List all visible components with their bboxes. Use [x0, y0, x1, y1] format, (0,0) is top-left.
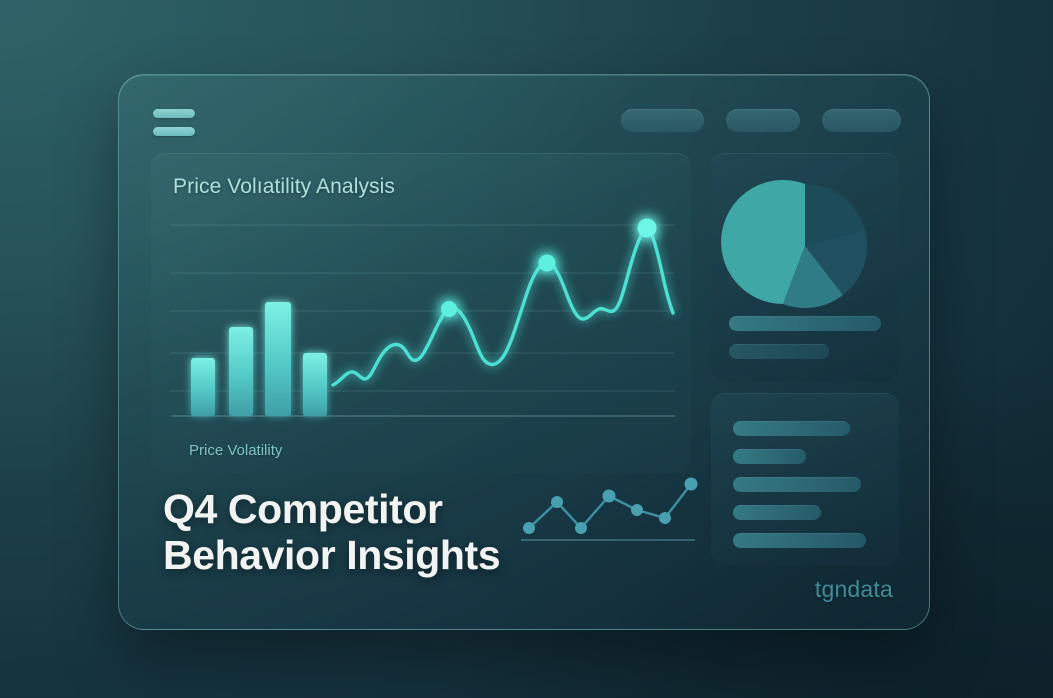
details-card-skeletons	[733, 421, 879, 548]
skeleton-row-3	[733, 477, 861, 492]
skeleton-row-4	[733, 505, 821, 520]
app-window: Price Volıatility Analysis	[118, 74, 930, 630]
skeleton-row-1	[729, 316, 881, 331]
skeleton-row-5	[733, 533, 866, 548]
sparkline-point-2	[551, 496, 563, 508]
bar-1	[191, 358, 215, 416]
sparkline-point-3	[575, 522, 587, 534]
sparkline-point-7	[685, 478, 698, 491]
distribution-card[interactable]	[711, 153, 899, 381]
screenshot-canvas: Price Volıatility Analysis	[0, 0, 1053, 698]
sparkline-point-4	[603, 490, 616, 503]
data-point-3[interactable]	[638, 219, 657, 238]
skeleton-row-2	[733, 449, 806, 464]
details-card[interactable]	[711, 393, 899, 565]
hamburger-line-2	[153, 127, 195, 136]
bar-2	[229, 327, 253, 416]
trend-markers	[441, 219, 657, 318]
sparkline-points	[523, 478, 698, 535]
hamburger-icon[interactable]	[153, 109, 195, 137]
bar-series	[191, 302, 327, 416]
page-title: Q4 Competitor Behavior Insights	[163, 487, 500, 579]
skeleton-row-1	[733, 421, 850, 436]
bar-4	[303, 353, 327, 416]
header-nav	[621, 109, 901, 132]
sparkline-point-1	[523, 522, 535, 534]
data-point-1[interactable]	[441, 301, 457, 317]
trend-line	[333, 229, 673, 385]
hamburger-line-1	[153, 109, 195, 118]
chart-legend-label: Price Volatility	[189, 442, 282, 459]
skeleton-row-2	[729, 344, 829, 359]
bar-3	[265, 302, 291, 416]
price-volatility-panel[interactable]: Price Volıatility Analysis	[151, 153, 691, 473]
distribution-card-skeletons	[729, 316, 881, 359]
headline-sparkline	[519, 470, 699, 542]
sparkline-point-6	[659, 512, 671, 524]
price-volatility-chart	[151, 153, 691, 473]
brand-watermark: tgndata	[815, 576, 893, 603]
pie-chart-icon	[711, 163, 899, 323]
nav-pill-1[interactable]	[621, 109, 704, 132]
nav-pill-3[interactable]	[822, 109, 901, 132]
nav-pill-2[interactable]	[726, 109, 800, 132]
data-point-2[interactable]	[539, 255, 556, 272]
sparkline-point-5	[631, 504, 643, 516]
